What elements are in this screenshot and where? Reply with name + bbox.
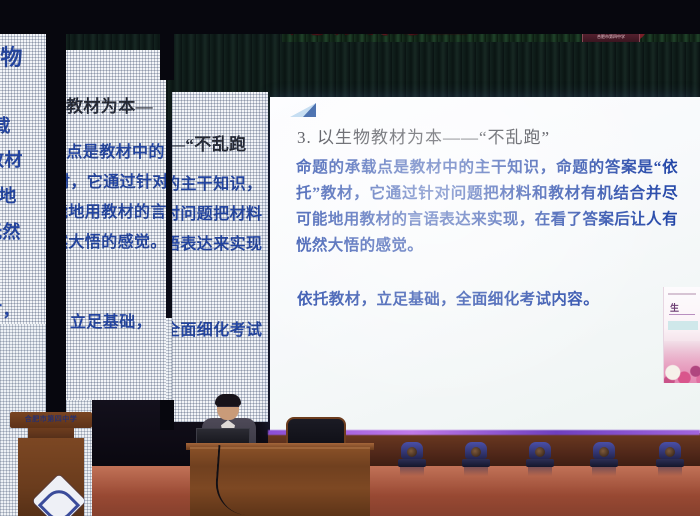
light-base xyxy=(526,459,554,467)
led-center-line2: 载点是教材中的 xyxy=(64,138,165,162)
slide-title: 3. 以生物教材为本——“不乱跑” xyxy=(297,123,550,148)
led-right-line1: —“不乱跑 xyxy=(172,130,247,155)
led-panel-right: —“不乱跑 的主干知识， 对问题把材料 语表达来实现 全面细化考试 xyxy=(172,92,268,422)
led-left-line2: 承载 xyxy=(0,112,11,138)
light-reflection xyxy=(464,467,488,476)
led-podium-neck xyxy=(28,428,74,438)
led-panel-center: 教材为本— 载点是教材中的 材，它通过针对 能地用教材的言 然大悟的感觉。 立足… xyxy=(64,50,166,400)
moving-head-stage-light xyxy=(590,442,618,472)
book-underline xyxy=(669,314,695,315)
biology-textbook-thumbnail: 生 xyxy=(663,287,700,383)
corner-triangle-dark xyxy=(303,103,316,117)
moving-head-stage-light xyxy=(526,442,554,472)
book-flower-artwork xyxy=(664,341,700,383)
slide-conclusion-text: 依托教材，立足基础，全面细化考试内容。 xyxy=(297,287,599,309)
led-right-line2: 的主干知识， xyxy=(172,170,262,194)
led-panel-gap-1 xyxy=(46,0,66,420)
light-lens-icon xyxy=(407,447,417,457)
light-base xyxy=(590,459,618,467)
light-reflection xyxy=(528,467,552,476)
school-emblem-inner xyxy=(38,484,80,516)
book-title-text: 生 xyxy=(670,301,679,314)
light-reflection xyxy=(400,467,424,476)
led-right-line6: 全面细化考试 xyxy=(172,316,262,340)
slide-body-text: 命题的承载点是教材中的主干知识，命题的答案是“依托”教材，它通过针对问题把材料和… xyxy=(296,155,678,259)
led-left-line5: 恍然 xyxy=(0,218,21,244)
led-center-line1: 教材为本— xyxy=(66,92,153,117)
led-left-line6: 材， xyxy=(0,296,21,322)
led-right-line4: 语表达来实现 xyxy=(172,230,262,254)
book-color-band xyxy=(668,321,698,330)
light-reflection xyxy=(658,467,682,476)
light-base xyxy=(398,459,426,467)
main-projection-screen: 3. 以生物教材为本——“不乱跑” 命题的承载点是教材中的主干知识，命题的答案是… xyxy=(270,97,700,433)
light-lens-icon xyxy=(471,447,481,457)
moving-head-stage-light xyxy=(462,442,490,472)
led-left-line1: 生物 xyxy=(0,40,23,72)
school-name-label: 合肥市第四中学 xyxy=(13,414,89,424)
speaker-glasses-icon xyxy=(217,406,239,412)
school-diamond-emblem-icon xyxy=(32,474,86,516)
light-lens-icon xyxy=(535,447,545,457)
led-displayed-podium: 合肥市第四中学 xyxy=(10,412,92,516)
light-reflection xyxy=(592,467,616,476)
led-podium-body xyxy=(18,438,84,516)
led-center-line3: 材，它通过针对 xyxy=(64,168,166,192)
led-panel-gap-3 xyxy=(160,400,174,430)
led-center-line5: 然大悟的感觉。 xyxy=(64,228,166,252)
led-right-line3: 对问题把材料 xyxy=(172,200,262,224)
upper-dark-strip xyxy=(0,0,700,34)
book-top-rule xyxy=(668,293,696,295)
led-left-line4: 能地 xyxy=(0,182,17,208)
led-center-line6: 立足基础， xyxy=(70,308,152,332)
speaker-hair xyxy=(215,394,241,406)
banner-plate-school: 合肥市第四中学 xyxy=(583,34,639,40)
led-center-line4: 能地用教材的言 xyxy=(64,198,166,222)
light-base xyxy=(462,459,490,467)
light-lens-icon xyxy=(599,447,609,457)
moving-head-stage-light xyxy=(398,442,426,472)
moving-head-stage-light xyxy=(656,442,684,472)
light-lens-icon xyxy=(665,447,675,457)
led-left-line3: 教材 xyxy=(0,146,23,172)
light-base xyxy=(656,459,684,467)
lecture-hall-photo: 为爱而生 1929 — 2019 合肥市第四中学 生物 承载 教材 能地 恍然 … xyxy=(0,0,700,516)
